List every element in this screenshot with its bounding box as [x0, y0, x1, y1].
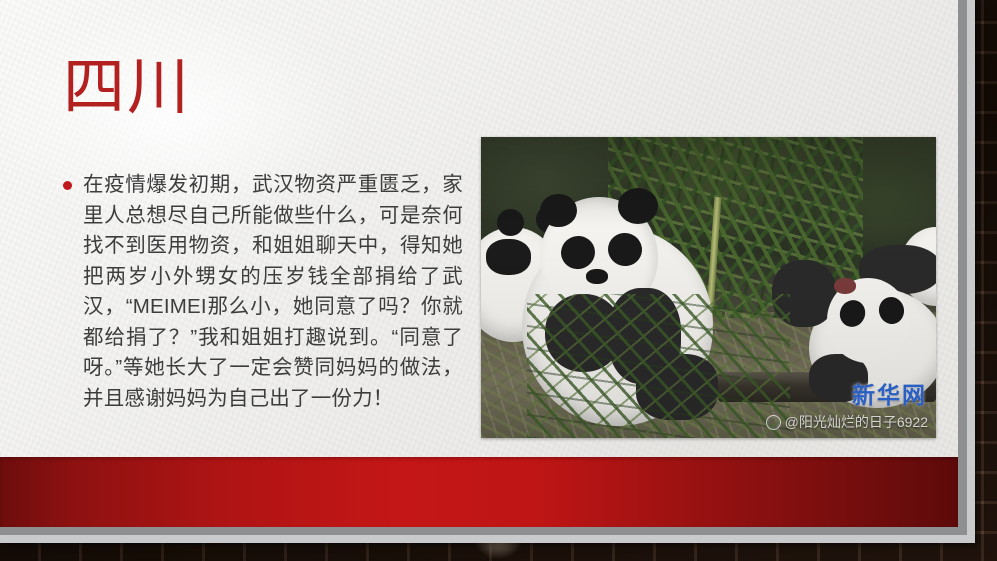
bullet-list-item: 在疫情爆发初期，武汉物资严重匮乏，家里人总想尽自己所能做些什么，可是奈何找不到医…: [63, 170, 463, 414]
weibo-icon: [766, 415, 781, 430]
page-title: 四川: [63, 57, 191, 119]
slide-content: 四川 在疫情爆发初期，武汉物资严重匮乏，家里人总想尽自己所能做些什么，可是奈何找…: [0, 0, 958, 527]
xinhua-watermark: 新华网: [852, 376, 927, 410]
body-paragraph: 在疫情爆发初期，武汉物资严重匮乏，家里人总想尽自己所能做些什么，可是奈何找不到医…: [83, 170, 463, 414]
slide-frame: 四川 在疫情爆发初期，武汉物资严重匮乏，家里人总想尽自己所能做些什么，可是奈何找…: [0, 0, 975, 543]
panda-photo: 新华网 @阳光灿烂的日子6922: [481, 137, 936, 438]
bottom-red-band: [0, 457, 958, 527]
bullet-point-icon: [63, 181, 72, 190]
weibo-handle-text: @阳光灿烂的日子6922: [785, 412, 928, 432]
body-text-block: 在疫情爆发初期，武汉物资严重匮乏，家里人总想尽自己所能做些什么，可是奈何找不到医…: [63, 170, 463, 414]
weibo-watermark: @阳光灿烂的日子6922: [766, 412, 928, 432]
presentation-canvas: 四川 在疫情爆发初期，武汉物资严重匮乏，家里人总想尽自己所能做些什么，可是奈何找…: [0, 0, 997, 561]
